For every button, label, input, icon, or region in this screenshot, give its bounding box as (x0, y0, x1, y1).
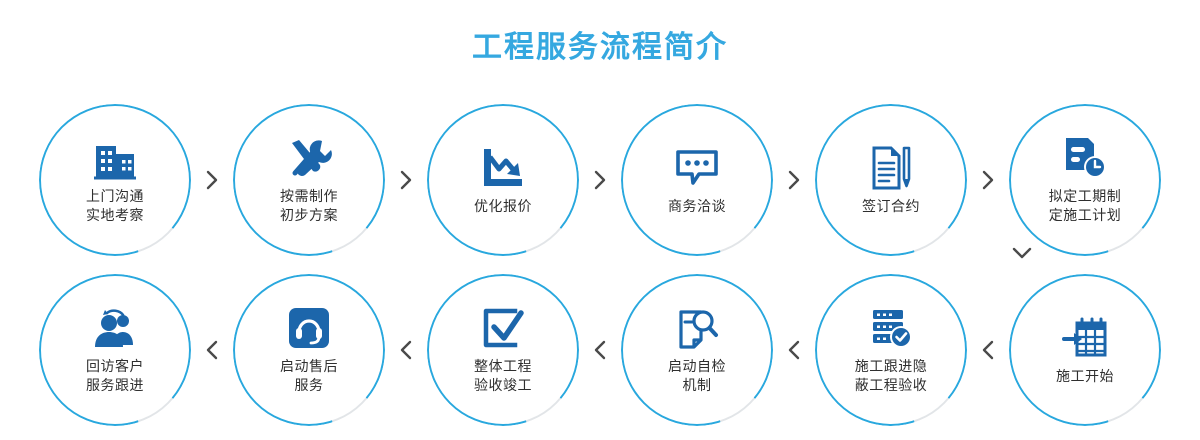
step-label: 启动自检 机制 (668, 358, 726, 396)
users-icon (91, 304, 139, 352)
trend-down-chart-icon (479, 144, 527, 192)
calendar-start-icon (1061, 314, 1109, 362)
step-label: 优化报价 (474, 198, 532, 217)
step-label: 回访客户 服务跟进 (86, 358, 144, 396)
process-step-12[interactable]: 回访客户 服务跟进 (39, 274, 191, 426)
step-label: 签订合约 (862, 198, 920, 217)
headset-icon (285, 304, 333, 352)
step-label: 整体工程 验收竣工 (474, 358, 532, 396)
process-step-2[interactable]: 按需制作 初步方案 (233, 104, 385, 256)
building-icon (91, 134, 139, 182)
process-step-4[interactable]: 商务洽谈 (621, 104, 773, 256)
page-title: 工程服务流程简介 (0, 22, 1200, 66)
chevron-right-icon (773, 170, 815, 190)
step-label: 施工跟进隐 蔽工程验收 (855, 358, 928, 396)
process-flow-infographic: 工程服务流程简介 (0, 0, 1200, 440)
step-label: 拟定工期制 定施工计划 (1049, 188, 1122, 226)
chevron-right-icon (579, 170, 621, 190)
step-label: 启动售后 服务 (280, 358, 338, 396)
process-row-2: 回访客户 服务跟进 启动售后 服务 (0, 270, 1200, 430)
process-step-1[interactable]: 上门沟通 实地考察 (39, 104, 191, 256)
document-clock-icon (1061, 134, 1109, 182)
tools-icon (285, 134, 333, 182)
process-step-7[interactable]: 施工开始 (1009, 274, 1161, 426)
chevron-right-icon (191, 170, 233, 190)
process-step-3[interactable]: 优化报价 (427, 104, 579, 256)
process-step-9[interactable]: 启动自检 机制 (621, 274, 773, 426)
speech-bubble-icon (673, 144, 721, 192)
chevron-right-icon (385, 170, 427, 190)
document-search-icon (673, 304, 721, 352)
chevron-left-icon (967, 340, 1009, 360)
chevron-left-icon (579, 340, 621, 360)
step-label: 按需制作 初步方案 (280, 188, 338, 226)
chevron-down-icon (1010, 243, 1034, 263)
process-step-10[interactable]: 整体工程 验收竣工 (427, 274, 579, 426)
document-pen-icon (867, 144, 915, 192)
process-step-5[interactable]: 签订合约 (815, 104, 967, 256)
chevron-right-icon (967, 170, 1009, 190)
step-label: 上门沟通 实地考察 (86, 188, 144, 226)
process-step-6[interactable]: 拟定工期制 定施工计划 (1009, 104, 1161, 256)
chevron-left-icon (385, 340, 427, 360)
checkbox-check-icon (479, 304, 527, 352)
chevron-left-icon (773, 340, 815, 360)
chevron-left-icon (191, 340, 233, 360)
process-step-8[interactable]: 施工跟进隐 蔽工程验收 (815, 274, 967, 426)
process-step-11[interactable]: 启动售后 服务 (233, 274, 385, 426)
process-row-1: 上门沟通 实地考察 按需制作 初步方案 (0, 100, 1200, 260)
step-label: 商务洽谈 (668, 198, 726, 217)
server-check-icon (867, 304, 915, 352)
step-label: 施工开始 (1056, 368, 1114, 387)
